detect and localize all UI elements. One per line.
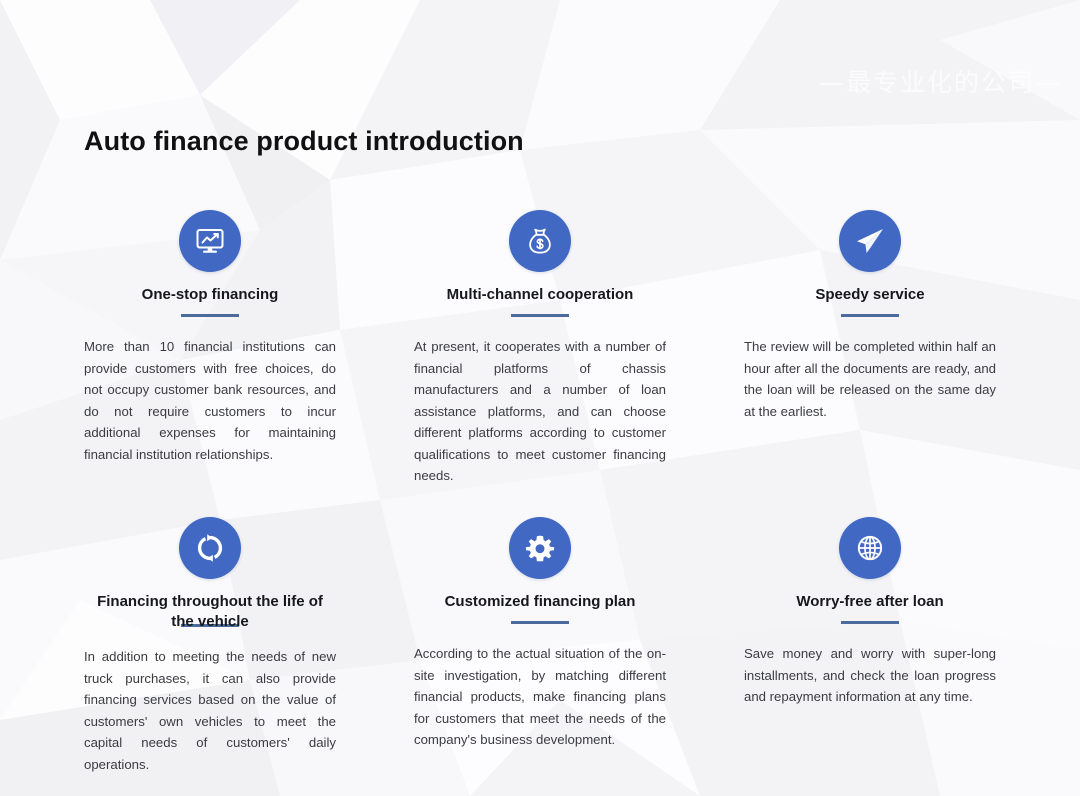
- card-body: In addition to meeting the needs of new …: [84, 646, 336, 775]
- feature-card-worry-free-after-loan[interactable]: Worry-free after loan Save money and wor…: [744, 517, 996, 776]
- feature-card-customized-financing-plan[interactable]: Customized financing plan According to t…: [414, 517, 666, 776]
- feature-row-1: One-stop financing More than 10 financia…: [84, 210, 996, 487]
- feature-card-multi-channel-cooperation[interactable]: Multi-channel cooperation At present, it…: [414, 210, 666, 487]
- card-title: Financing throughout the life of the veh…: [84, 592, 336, 633]
- card-title: One-stop financing: [84, 285, 336, 305]
- money-bag-icon: [523, 224, 557, 258]
- refresh-cycle-icon: [193, 531, 227, 565]
- icon-wrapper: [744, 210, 996, 272]
- card-title: Multi-channel cooperation: [414, 285, 666, 305]
- title-divider: [181, 314, 239, 317]
- card-body: According to the actual situation of the…: [414, 643, 666, 751]
- gear-icon: [523, 531, 557, 565]
- monitor-chart-icon: [193, 224, 227, 258]
- feature-grid: One-stop financing More than 10 financia…: [84, 210, 996, 775]
- icon-circle: [179, 210, 241, 272]
- title-divider: [841, 621, 899, 624]
- card-body: The review will be completed within half…: [744, 336, 996, 422]
- icon-circle: [509, 210, 571, 272]
- card-title: Worry-free after loan: [744, 592, 996, 612]
- title-divider: [841, 314, 899, 317]
- feature-card-speedy-service[interactable]: Speedy service The review will be comple…: [744, 210, 996, 487]
- card-title: Customized financing plan: [414, 592, 666, 612]
- card-body: Save money and worry with super-long ins…: [744, 643, 996, 708]
- title-divider: [511, 621, 569, 624]
- icon-circle: [509, 517, 571, 579]
- title-divider: [511, 314, 569, 317]
- card-body: At present, it cooperates with a number …: [414, 336, 666, 487]
- icon-wrapper: [84, 517, 336, 579]
- icon-wrapper: [414, 210, 666, 272]
- icon-circle: [839, 210, 901, 272]
- icon-circle: [839, 517, 901, 579]
- page-title: Auto finance product introduction: [84, 126, 524, 157]
- icon-wrapper: [414, 517, 666, 579]
- icon-circle: [179, 517, 241, 579]
- slide-content: Auto finance product introduction: [0, 0, 1080, 796]
- feature-card-financing-life-of-vehicle[interactable]: Financing throughout the life of the veh…: [84, 517, 336, 776]
- card-body: More than 10 financial institutions can …: [84, 336, 336, 465]
- icon-wrapper: [744, 517, 996, 579]
- feature-row-2: Financing throughout the life of the veh…: [84, 517, 996, 776]
- paper-plane-icon: [853, 224, 887, 258]
- globe-icon: [853, 531, 887, 565]
- feature-card-one-stop-financing[interactable]: One-stop financing More than 10 financia…: [84, 210, 336, 487]
- icon-wrapper: [84, 210, 336, 272]
- card-title: Speedy service: [744, 285, 996, 305]
